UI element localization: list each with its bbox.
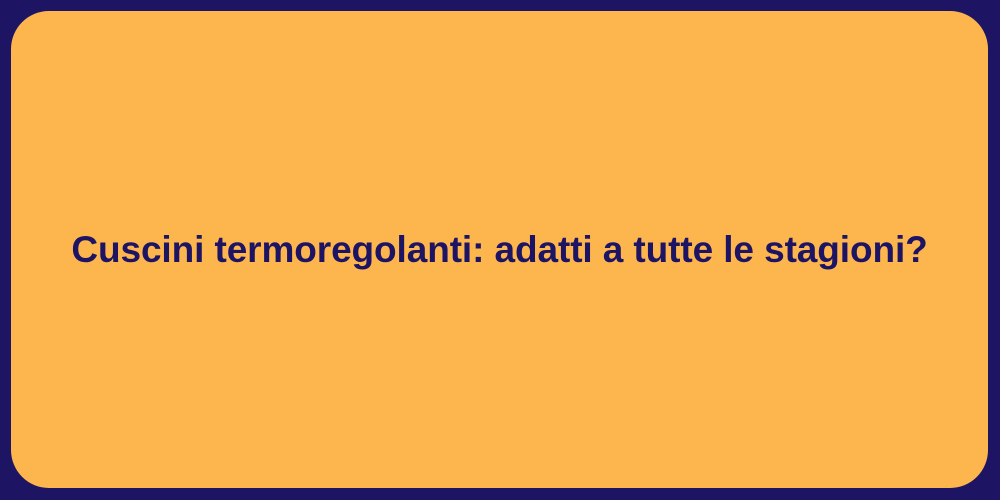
card-inner: Cuscini termoregolanti: adatti a tutte l…: [11, 226, 988, 273]
content-card: Cuscini termoregolanti: adatti a tutte l…: [11, 11, 988, 488]
page-title: Cuscini termoregolanti: adatti a tutte l…: [51, 226, 948, 273]
page-background: Cuscini termoregolanti: adatti a tutte l…: [0, 0, 1000, 500]
